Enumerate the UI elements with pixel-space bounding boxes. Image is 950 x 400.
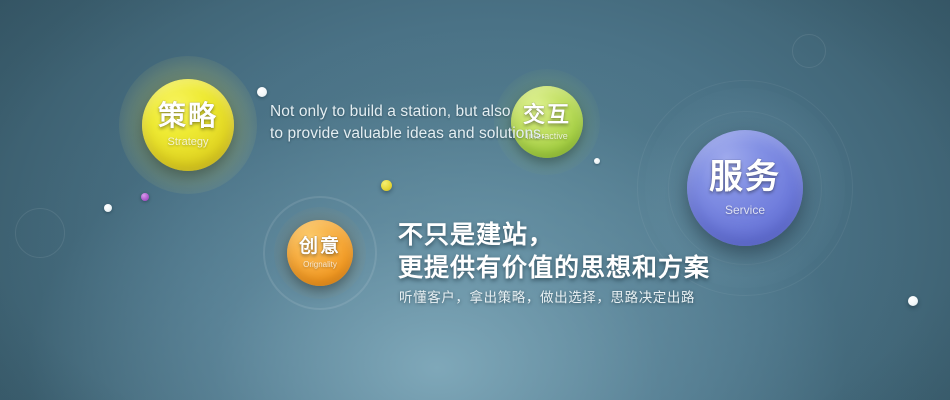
- white-dot-green-right-icon: [594, 158, 600, 164]
- english-copy-line2: to provide valuable ideas and solutions.: [270, 123, 545, 145]
- ring-top-right-icon: [792, 34, 826, 68]
- headline-line2: 更提供有价值的思想和方案: [398, 252, 710, 285]
- bubble-service-en-label: Service: [725, 204, 765, 216]
- bubble-service-cn-label: 服务: [709, 160, 781, 194]
- hero-banner: 策略 Strategy 交互 Interactive 创意 Orignality…: [0, 0, 950, 400]
- english-copy: Not only to build a station, but also to…: [270, 101, 545, 146]
- purple-dot-left-icon: [141, 193, 149, 201]
- white-dot-lower-right-icon: [908, 296, 918, 306]
- bubble-originality-en-label: Orignality: [303, 261, 337, 269]
- bubble-strategy-cn-label: 策略: [158, 102, 218, 130]
- bubble-strategy[interactable]: 策略 Strategy: [142, 79, 234, 171]
- headline-line1: 不只是建站，: [398, 219, 710, 252]
- english-copy-line1: Not only to build a station, but also: [270, 101, 545, 123]
- subheadline: 听懂客户，拿出策略，做出选择，思路决定出路: [399, 286, 695, 306]
- white-dot-left-icon: [104, 204, 112, 212]
- yellow-dot-center-icon: [381, 180, 392, 191]
- bubble-originality[interactable]: 创意 Orignality: [287, 220, 353, 286]
- bubble-originality-cn-label: 创意: [299, 237, 341, 256]
- headline: 不只是建站， 更提供有价值的思想和方案: [398, 219, 710, 284]
- ring-left-lower-icon: [15, 208, 65, 258]
- white-dot-upper-left-icon: [257, 87, 267, 97]
- bubble-strategy-en-label: Strategy: [168, 137, 209, 148]
